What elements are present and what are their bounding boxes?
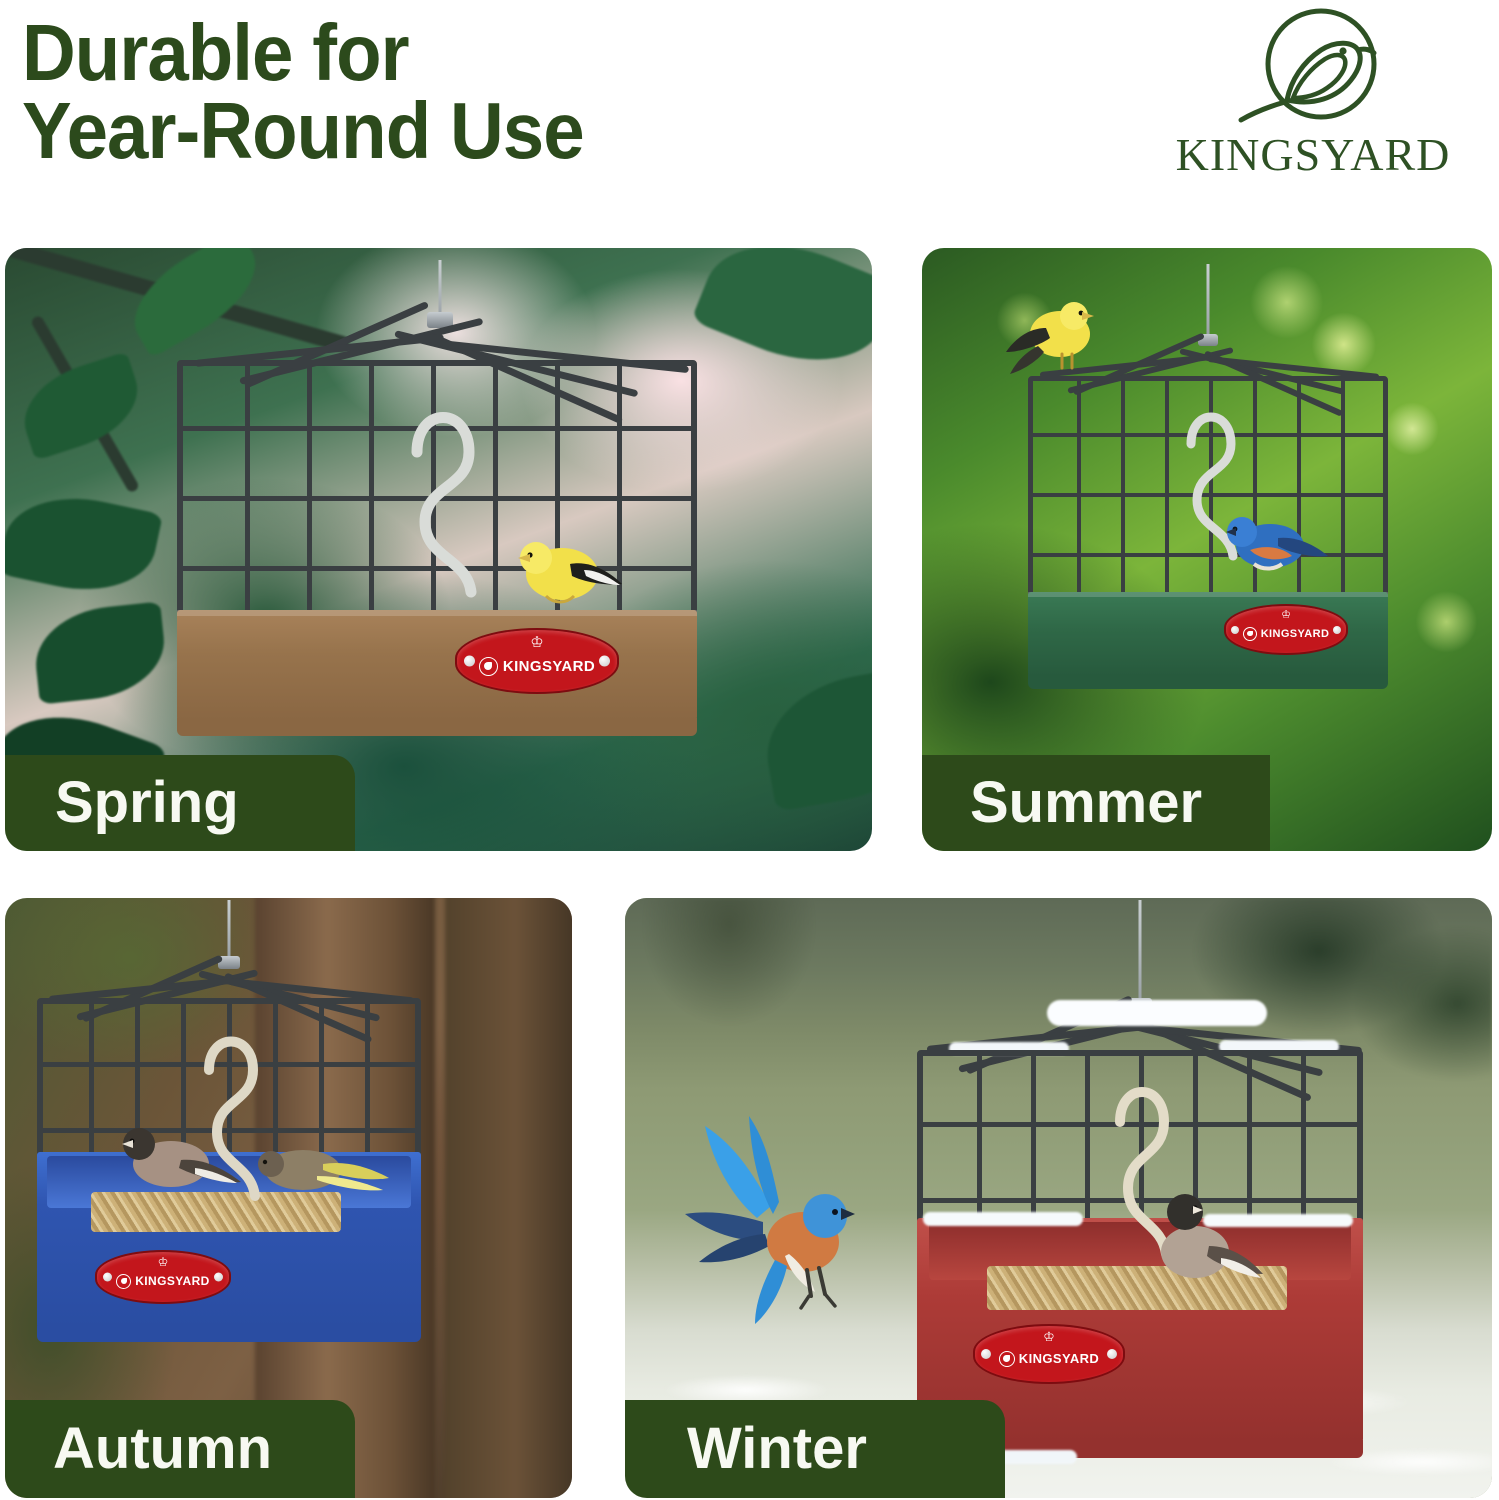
- brand-wordmark: KINGSYARD: [1173, 128, 1453, 181]
- panel-spring: ♔ KINGSYARD Spring: [5, 248, 872, 851]
- season-label-text: Winter: [687, 1420, 867, 1478]
- screw-icon: [981, 1349, 991, 1359]
- bird-finch: [243, 1134, 393, 1208]
- crown-icon: ♔: [1043, 1330, 1055, 1343]
- kingsyard-badge: ♔ KINGSYARD: [1224, 604, 1348, 655]
- season-label-summer: Summer: [922, 755, 1270, 851]
- badge-bird-icon: [1243, 627, 1257, 641]
- season-label-winter: Winter: [625, 1400, 1005, 1498]
- hanging-wire: [228, 900, 231, 958]
- bird-in-circle-logo-icon: [1225, 6, 1401, 130]
- badge-bird-icon: [999, 1351, 1015, 1367]
- badge-label: KINGSYARD: [1261, 628, 1330, 640]
- bird-junco: [107, 1116, 247, 1206]
- panel-winter: ♔ KINGSYARD: [625, 898, 1492, 1498]
- snow-cap: [1047, 1000, 1267, 1026]
- s-hook: [385, 382, 495, 612]
- screw-icon: [103, 1273, 112, 1282]
- kingsyard-badge: ♔ KINGSYARD: [95, 1250, 231, 1304]
- bird-bluebird-flying: [679, 1110, 909, 1360]
- badge-bird-icon: [116, 1274, 131, 1289]
- badge-label: KINGSYARD: [135, 1274, 210, 1288]
- badge-bird-icon: [479, 657, 498, 676]
- page-header: Durable for Year-Round Use KINGSYARD: [0, 0, 1499, 240]
- season-label-autumn: Autumn: [5, 1400, 355, 1498]
- bird-feeder-summer: ♔ KINGSYARD: [1018, 334, 1398, 754]
- bird-feeder-spring: ♔ KINGSYARD: [155, 260, 725, 760]
- hopper-box-brown: [177, 610, 697, 720]
- bird-feeder-autumn: ♔ KINGSYARD: [29, 920, 429, 1390]
- snow-cap: [923, 1212, 1083, 1226]
- screw-icon: [1231, 626, 1239, 634]
- season-label-spring: Spring: [5, 755, 355, 851]
- brand-logo: KINGSYARD: [1173, 6, 1453, 202]
- season-label-text: Autumn: [53, 1420, 272, 1478]
- screw-icon: [599, 656, 610, 667]
- hanging-wire: [1139, 900, 1142, 1000]
- tree-trunk: [445, 898, 572, 1498]
- panel-autumn: ♔ KINGSYARD: [5, 898, 572, 1498]
- kingsyard-badge: ♔ KINGSYARD: [973, 1324, 1125, 1384]
- crown-icon: ♔: [158, 1256, 169, 1268]
- season-label-text: Summer: [970, 774, 1202, 832]
- bird-goldfinch: [510, 528, 630, 614]
- screw-icon: [214, 1273, 223, 1282]
- badge-label: KINGSYARD: [1019, 1351, 1099, 1366]
- hanging-wire: [1207, 264, 1210, 336]
- badge-label: KINGSYARD: [503, 658, 595, 675]
- kingsyard-badge: ♔ KINGSYARD: [455, 628, 619, 694]
- crown-icon: ♔: [1281, 610, 1291, 621]
- season-label-text: Spring: [55, 774, 239, 832]
- bird-bluebird: [1214, 506, 1332, 586]
- screw-icon: [1333, 626, 1341, 634]
- hanging-wire: [439, 260, 442, 318]
- screw-icon: [464, 656, 475, 667]
- panel-summer: ♔ KINGSYARD: [922, 248, 1492, 851]
- screw-icon: [1107, 1349, 1117, 1359]
- bird-junco: [1137, 1186, 1267, 1306]
- bird-goldfinch: [1004, 294, 1124, 390]
- crown-icon: ♔: [530, 635, 543, 650]
- page-title: Durable for Year-Round Use: [22, 14, 952, 169]
- bird-feeder-winter: ♔ KINGSYARD: [905, 918, 1375, 1463]
